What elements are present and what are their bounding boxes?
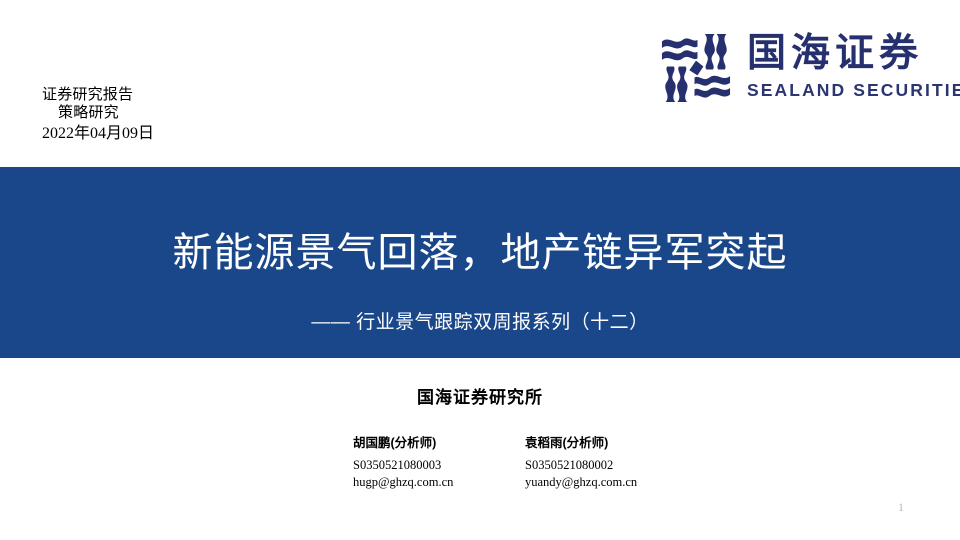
logo-chinese-name: 国海证券 bbox=[747, 34, 960, 73]
author-license-code: S0350521080002 bbox=[525, 457, 655, 474]
author-license-code: S0350521080003 bbox=[353, 457, 483, 474]
logo-english-name: SEALAND SECURITIES bbox=[747, 80, 960, 101]
author-entry: 袁稻雨(分析师) S0350521080002 yuandy@ghzq.com.… bbox=[525, 432, 655, 491]
page-title: 新能源景气回落，地产链异军突起 bbox=[0, 231, 960, 275]
logo-text-block: 国海证券 SEALAND SECURITIES bbox=[747, 31, 960, 101]
author-entry: 胡国鹏(分析师) S0350521080003 hugp@ghzq.com.cn bbox=[353, 432, 483, 491]
report-category-label: 策略研究 bbox=[42, 104, 342, 122]
page-number: 1 bbox=[898, 500, 904, 515]
report-date: 2022年04月09日 bbox=[42, 125, 342, 144]
sealand-wave-pinwheel-icon bbox=[659, 31, 733, 105]
title-band: 新能源景气回落，地产链异军突起 —— 行业景气跟踪双周报系列（十二） bbox=[0, 167, 960, 358]
author-name: 胡国鹏(分析师) bbox=[353, 432, 483, 451]
author-email[interactable]: yuandy@ghzq.com.cn bbox=[525, 474, 655, 491]
research-institute-label: 国海证券研究所 bbox=[0, 383, 960, 408]
slide-canvas: 证券研究报告 策略研究 2022年04月09日 bbox=[0, 0, 960, 540]
author-name: 袁稻雨(分析师) bbox=[525, 432, 655, 451]
author-email[interactable]: hugp@ghzq.com.cn bbox=[353, 474, 483, 491]
report-type-label: 证券研究报告 bbox=[42, 86, 342, 104]
authors-block: 胡国鹏(分析师) S0350521080003 hugp@ghzq.com.cn… bbox=[353, 432, 655, 491]
company-logo: 国海证券 SEALAND SECURITIES bbox=[659, 31, 960, 105]
page-subtitle: —— 行业景气跟踪双周报系列（十二） bbox=[0, 307, 960, 334]
report-header-block: 证券研究报告 策略研究 2022年04月09日 bbox=[42, 86, 342, 144]
